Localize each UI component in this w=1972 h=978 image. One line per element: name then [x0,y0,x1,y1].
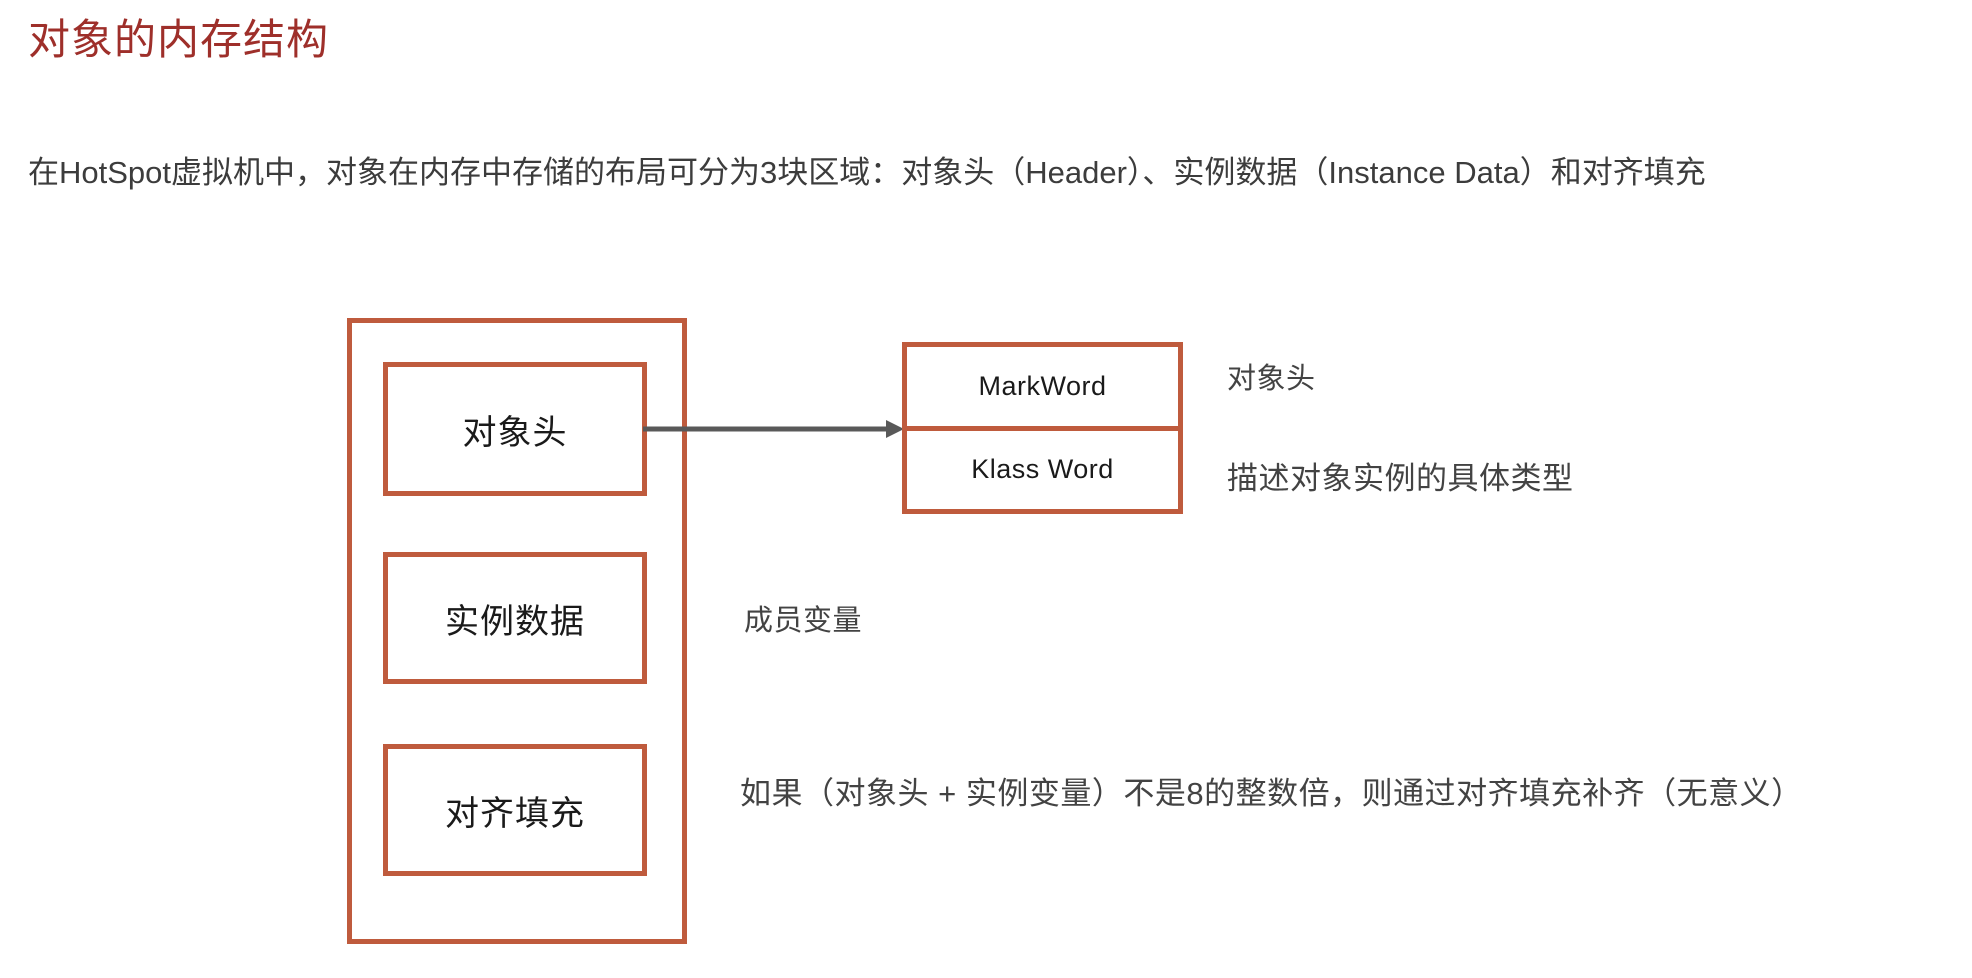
markword-row: MarkWord [907,347,1178,431]
object-header-detail-box: MarkWord Klass Word [902,342,1183,514]
markword-label: MarkWord [978,371,1106,402]
annotation-alignment-padding: 如果（对象头 + 实例变量）不是8的整数倍，则通过对齐填充补齐（无意义） [740,768,1803,813]
klass-word-label: Klass Word [971,454,1114,485]
klass-word-row: Klass Word [907,431,1178,510]
alignment-padding-block-label: 对齐填充 [445,786,585,835]
instance-data-block-label: 实例数据 [445,594,585,643]
arrow-right-icon [642,417,904,441]
object-header-block: 对象头 [383,362,647,496]
object-header-block-label: 对象头 [463,405,568,454]
object-memory-structure-diagram: 对象头 实例数据 对齐填充 MarkWord Klass Word 对象头 描述… [0,0,1972,978]
annotation-object-header: 对象头 [1227,355,1316,397]
instance-data-block: 实例数据 [383,552,647,684]
annotation-klass-word: 描述对象实例的具体类型 [1227,453,1574,498]
annotation-member-variable: 成员变量 [744,597,862,639]
alignment-padding-block: 对齐填充 [383,744,647,876]
